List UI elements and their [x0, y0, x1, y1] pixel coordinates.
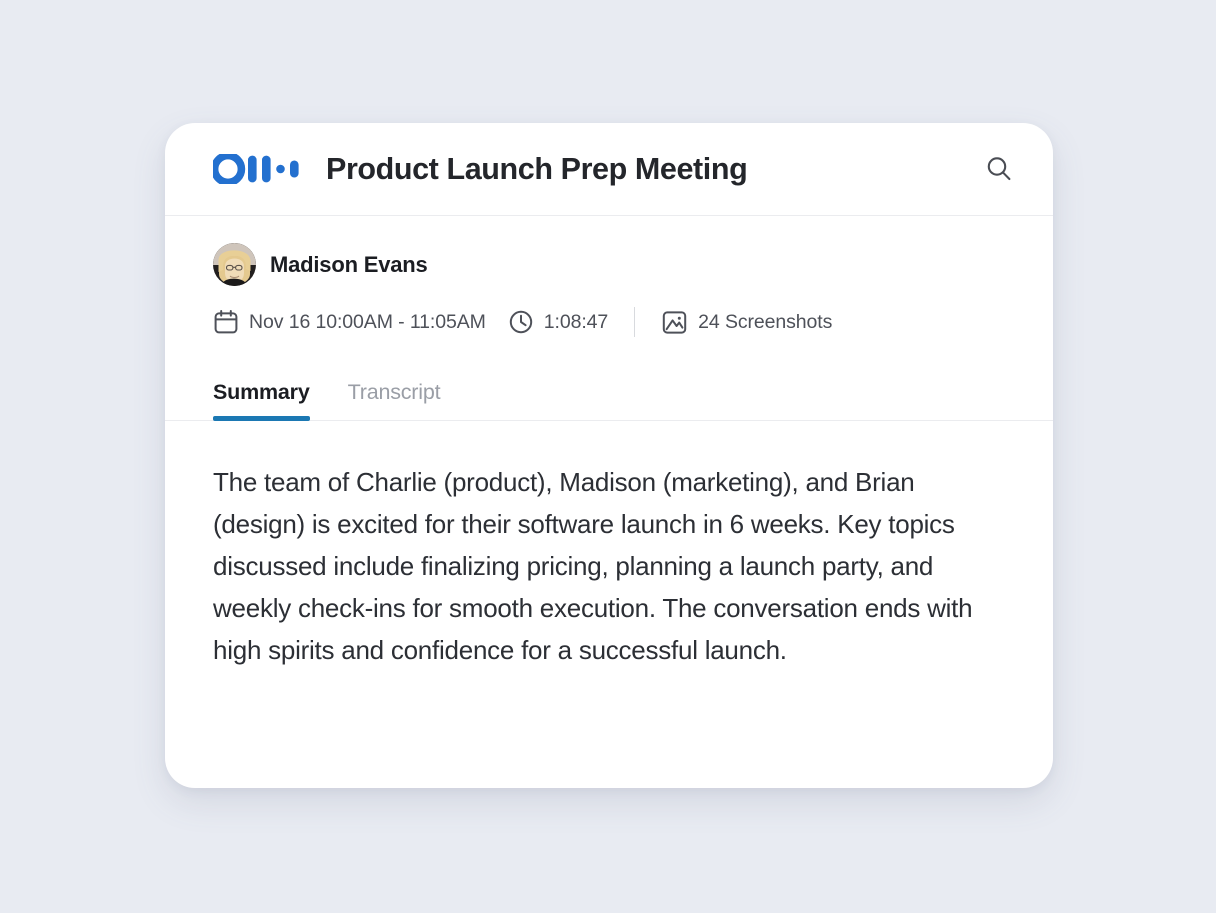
calendar-icon — [213, 309, 239, 335]
tab-transcript[interactable]: Transcript — [348, 380, 441, 421]
page-title: Product Launch Prep Meeting — [326, 152, 979, 187]
meeting-date-label: Nov 16 10:00AM - 11:05AM — [249, 311, 486, 334]
meeting-duration-label: 1:08:47 — [544, 311, 608, 334]
info-divider — [634, 307, 635, 337]
avatar[interactable] — [213, 243, 256, 286]
otter-logo-mark — [213, 154, 301, 184]
tab-summary[interactable]: Summary — [213, 380, 310, 421]
tab-bar: Summary Transcript — [165, 365, 1053, 421]
image-icon — [661, 309, 688, 336]
search-icon — [984, 154, 1014, 184]
page-background: Product Launch Prep Meeting — [0, 0, 1216, 913]
avatar-image — [213, 243, 256, 286]
otter-logo[interactable] — [213, 153, 301, 185]
speaker-name: Madison Evans — [270, 252, 428, 278]
meeting-info-row: Nov 16 10:00AM - 11:05AM 1:08:47 — [213, 307, 1005, 337]
meeting-meta: Madison Evans Nov 16 10:00AM - 11:05AM — [165, 216, 1053, 337]
meeting-duration-item: 1:08:47 — [508, 309, 608, 335]
meeting-card: Product Launch Prep Meeting — [165, 123, 1053, 788]
meeting-date-item: Nov 16 10:00AM - 11:05AM — [213, 309, 486, 335]
search-button[interactable] — [979, 149, 1019, 189]
meeting-screenshots-item[interactable]: 24 Screenshots — [661, 309, 832, 336]
clock-icon — [508, 309, 534, 335]
summary-text: The team of Charlie (product), Madison (… — [213, 461, 1003, 671]
card-header: Product Launch Prep Meeting — [165, 123, 1053, 216]
summary-panel: The team of Charlie (product), Madison (… — [165, 421, 1053, 671]
meeting-screenshots-label: 24 Screenshots — [698, 311, 832, 334]
speaker-row: Madison Evans — [213, 243, 1005, 286]
